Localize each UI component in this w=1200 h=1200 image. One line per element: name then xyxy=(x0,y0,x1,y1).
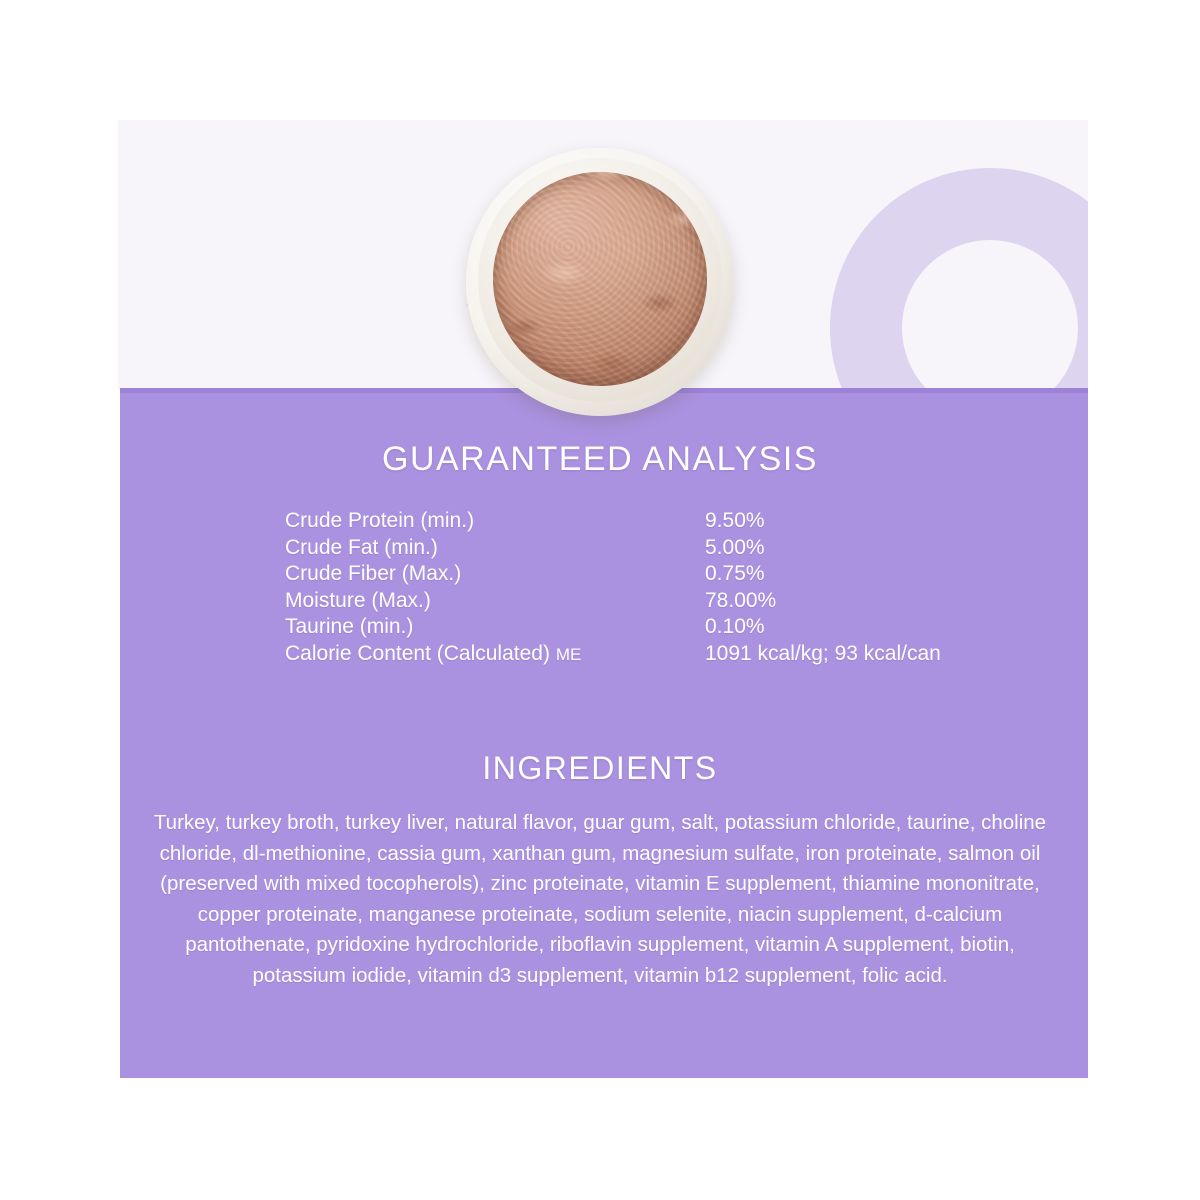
table-row: Moisture (Max.) 78.00% xyxy=(285,588,1005,615)
analysis-label: Calorie Content (Calculated) ME xyxy=(285,641,705,669)
analysis-label: Crude Fiber (Max.) xyxy=(285,561,705,588)
pate-texture-layer-2 xyxy=(493,172,707,386)
guaranteed-analysis-heading: GUARANTEED ANALYSIS xyxy=(0,440,1200,479)
analysis-value: 0.75% xyxy=(705,561,1005,588)
table-row: Crude Protein (min.) 9.50% xyxy=(285,508,1005,535)
product-image-bowl-of-pate xyxy=(466,148,734,416)
analysis-label: Crude Protein (min.) xyxy=(285,508,705,535)
analysis-value: 9.50% xyxy=(705,508,1005,535)
analysis-label: Crude Fat (min.) xyxy=(285,535,705,562)
table-row: Crude Fiber (Max.) 0.75% xyxy=(285,561,1005,588)
analysis-label: Taurine (min.) xyxy=(285,614,705,641)
analysis-value: 78.00% xyxy=(705,588,1005,615)
analysis-value: 5.00% xyxy=(705,535,1005,562)
guaranteed-analysis-table: Crude Protein (min.) 9.50% Crude Fat (mi… xyxy=(285,508,1005,668)
product-detail-panel: GUARANTEED ANALYSIS Crude Protein (min.)… xyxy=(0,0,1200,1200)
ring-donut-shape xyxy=(830,168,1088,390)
analysis-label-main: Calorie Content (Calculated) xyxy=(285,642,550,665)
analysis-label: Moisture (Max.) xyxy=(285,588,705,615)
ingredients-heading: INGREDIENTS xyxy=(0,750,1200,787)
analysis-label-unit: ME xyxy=(556,645,582,664)
pate-food-surface xyxy=(493,172,707,386)
analysis-value: 1091 kcal/kg; 93 kcal/can xyxy=(705,641,1005,669)
ingredients-text: Turkey, turkey broth, turkey liver, natu… xyxy=(145,808,1055,991)
table-row: Crude Fat (min.) 5.00% xyxy=(285,535,1005,562)
table-row: Calorie Content (Calculated) ME 1091 kca… xyxy=(285,641,1005,669)
table-row: Taurine (min.) 0.10% xyxy=(285,614,1005,641)
analysis-value: 0.10% xyxy=(705,614,1005,641)
